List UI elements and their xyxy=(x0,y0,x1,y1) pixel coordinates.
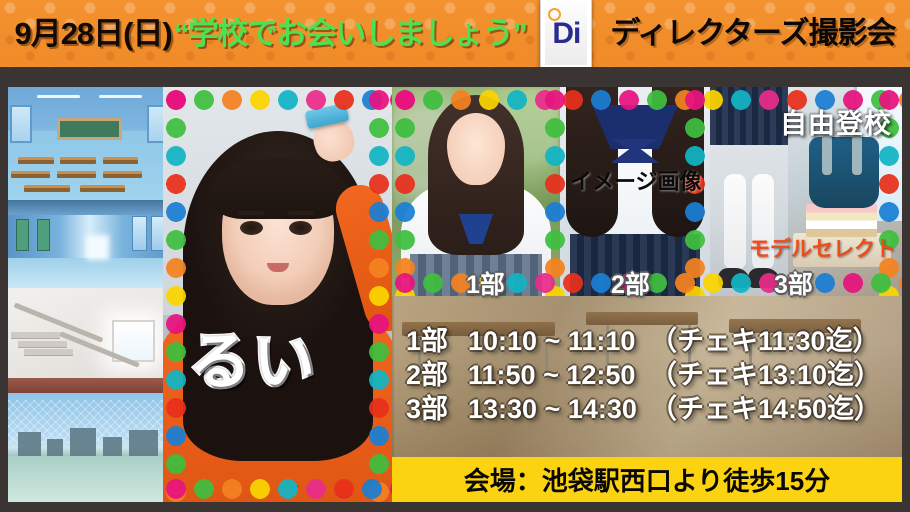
stairwell-photo xyxy=(8,288,171,393)
rooftop-photo xyxy=(8,393,171,502)
schedule-time: 11:50 ~ 12:50 xyxy=(468,360,650,391)
left-photo-gallery xyxy=(8,87,171,502)
part3-legs-photo-art xyxy=(710,87,788,296)
model-bangs xyxy=(208,157,348,219)
venue-bar: 会場：池袋駅西口より徒歩15分 xyxy=(392,457,902,502)
schedule-time: 10:10 ~ 11:10 xyxy=(468,326,650,357)
part3-legs-photo xyxy=(710,87,788,296)
schedule-block: 1部 10:10 ~ 11:10 （チェキ11:30迄） 2部 11:50 ~ … xyxy=(392,296,902,457)
di-ring-icon xyxy=(548,8,561,21)
event-flyer: 9月28日(日) “学校でお会いしましょう” Di ディレクターズ撮影会 xyxy=(0,0,910,512)
schedule-row: 3部 13:30 ~ 14:30 （チェキ14:50迄） xyxy=(406,394,896,425)
di-logo-text: Di xyxy=(552,19,580,49)
part-label-3: 3部 xyxy=(774,273,813,298)
flyer-header: 9月28日(日) “学校でお会いしましょう” Di ディレクターズ撮影会 xyxy=(0,0,910,67)
corridor-photo-art xyxy=(8,200,171,288)
schedule-cheki: （チェキ13:10迄） xyxy=(650,360,896,391)
classroom-photo-art xyxy=(8,87,171,200)
right-column: 自由登校 イメージ画像 モデルセレクト 1部 2部 3部 1部 10:10 ~ … xyxy=(392,87,902,502)
model-eye-right xyxy=(289,221,312,235)
part1-photo-art xyxy=(392,87,560,296)
header-brand: ディレクターズ撮影会 xyxy=(610,19,895,49)
header-date: 9月28日(日) xyxy=(14,18,171,49)
model-name: るい xyxy=(189,332,317,394)
part1-photo xyxy=(392,87,560,296)
di-logo: Di xyxy=(540,0,592,67)
label-image-note: イメージ画像 xyxy=(570,171,702,193)
part-label-1: 1部 xyxy=(466,273,505,298)
schedule-part: 2部 xyxy=(406,360,468,391)
schedule-row: 2部 11:50 ~ 12:50 （チェキ13:10迄） xyxy=(406,360,896,391)
part-label-2: 2部 xyxy=(611,273,650,298)
label-free-attendance: 自由登校 xyxy=(780,111,892,138)
schedule-part: 3部 xyxy=(406,394,468,425)
model-eye-left xyxy=(240,221,263,235)
main-model-photo: るい xyxy=(163,87,392,502)
stairwell-photo-art xyxy=(8,288,171,393)
classroom-photo xyxy=(8,87,171,200)
venue-text: 会場：池袋駅西口より徒歩15分 xyxy=(464,461,830,498)
corridor-photo xyxy=(8,200,171,288)
schedule-cheki: （チェキ11:30迄） xyxy=(650,326,896,357)
label-model-select: モデルセレクト xyxy=(749,239,896,260)
header-quote: “学校でお会いしましょう” xyxy=(174,18,527,49)
schedule-cheki: （チェキ14:50迄） xyxy=(650,394,896,425)
schedule-part: 1部 xyxy=(406,326,468,357)
schedule-rows: 1部 10:10 ~ 11:10 （チェキ11:30迄） 2部 11:50 ~ … xyxy=(392,296,902,457)
rooftop-photo-art xyxy=(8,393,171,502)
schedule-time: 13:30 ~ 14:30 xyxy=(468,394,650,425)
schedule-row: 1部 10:10 ~ 11:10 （チェキ11:30迄） xyxy=(406,326,896,357)
header-inner: 9月28日(日) “学校でお会いしましょう” Di ディレクターズ撮影会 xyxy=(0,0,910,67)
